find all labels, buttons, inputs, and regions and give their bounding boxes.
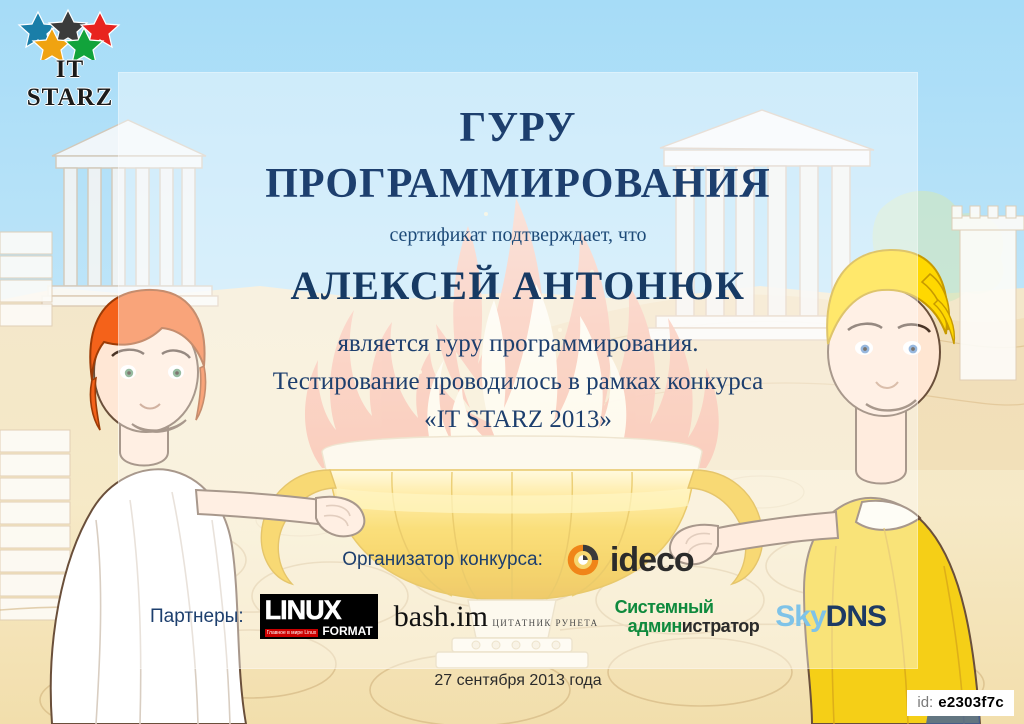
partners-row: Партнеры: LINUX Главное в мире Linux FOR… <box>118 594 918 639</box>
it-starz-logo: IT STARZ <box>10 8 130 94</box>
partner-logo-skydns: SkyDNS <box>775 602 886 632</box>
bash-im-main: bash.im <box>394 600 488 633</box>
logo-wordmark: IT STARZ <box>14 56 126 112</box>
confirm-text: сертификат подтверждает, что <box>118 224 918 247</box>
body-line-3: «IT STARZ 2013» <box>118 406 918 434</box>
certificate-canvas: IT STARZ ГУРУ ПРОГРАММИРОВАНИЯ сертифика… <box>0 0 1024 724</box>
partner-logo-bash-im: bash.im ЦИТАТНИК РУНЕТА <box>394 602 599 632</box>
partner-logo-linux-format: LINUX Главное в мире Linux FORMAT <box>260 594 378 639</box>
id-value: e2303f7c <box>938 694 1004 711</box>
title-line-1: ГУРУ <box>118 104 918 152</box>
recipient-name: АЛЕКСЕЙ АНТОНЮК <box>118 262 918 309</box>
ideco-wordmark: ideco <box>610 543 694 577</box>
partner-logo-sistemnyi-administrator: Системный администратор <box>615 598 760 636</box>
stars-icon <box>10 8 130 60</box>
linux-format-sub: FORMAT <box>322 625 372 637</box>
id-label: id: <box>917 694 933 711</box>
partners-label: Партнеры: <box>150 606 244 628</box>
organizer-row: Организатор конкурса: ideco <box>118 542 918 578</box>
organizer-label: Организатор конкурса: <box>342 549 543 571</box>
linux-format-main: LINUX <box>265 597 373 624</box>
skydns-part-1: Sky <box>775 600 825 633</box>
sysadmin-line-2-green: админ <box>628 616 682 636</box>
body-line-1: является гуру программирования. <box>118 330 918 358</box>
certificate-content: ГУРУ ПРОГРАММИРОВАНИЯ сертификат подтвер… <box>118 72 918 669</box>
ideco-swirl-icon <box>565 542 601 578</box>
sysadmin-line-2-dark: истратор <box>682 616 759 636</box>
ideco-logo: ideco <box>565 542 694 578</box>
bash-im-sub: ЦИТАТНИК РУНЕТА <box>492 618 598 628</box>
sysadmin-line-1: Системный <box>615 597 714 617</box>
issue-date: 27 сентября 2013 года <box>118 672 918 690</box>
title-line-2: ПРОГРАММИРОВАНИЯ <box>118 160 918 208</box>
linux-format-tagline: Главное в мире Linux <box>265 629 319 637</box>
body-line-2: Тестирование проводилось в рамках конкур… <box>118 368 918 396</box>
skydns-part-2: DNS <box>826 600 886 633</box>
certificate-id-badge: id:e2303f7c <box>907 690 1014 716</box>
